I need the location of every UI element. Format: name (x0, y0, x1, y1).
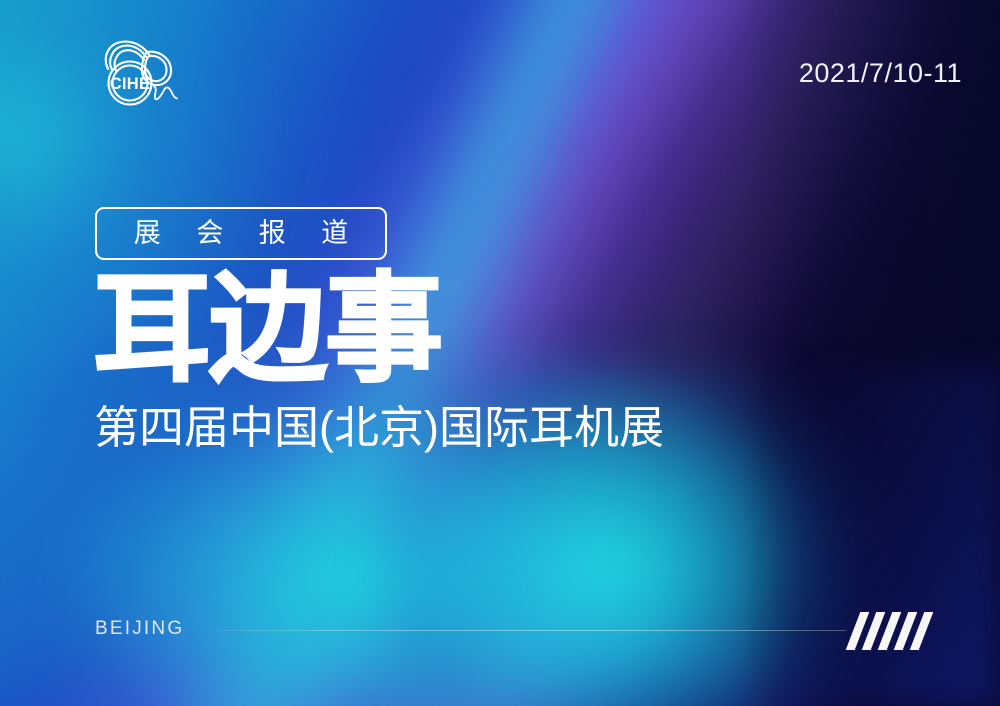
event-date: 2021/7/10-11 (799, 58, 962, 89)
slash-marks-icon (853, 612, 945, 650)
badge-box: 展 会 报 道 (95, 207, 387, 260)
page-subtitle: 第四届中国(北京)国际耳机展 (94, 404, 664, 451)
event-poster: CIHE 2021/7/10-11 展 会 报 道 耳边事 第四届中国(北京)国… (0, 0, 1000, 706)
badge-label: 展 会 报 道 (120, 220, 363, 247)
cihe-headphone-logo-icon: CIHE (92, 36, 188, 112)
footer-divider (216, 630, 846, 631)
footer-city-label: BEIJING (95, 618, 184, 640)
svg-text:CIHE: CIHE (110, 75, 151, 93)
page-title: 耳边事 (93, 271, 441, 389)
